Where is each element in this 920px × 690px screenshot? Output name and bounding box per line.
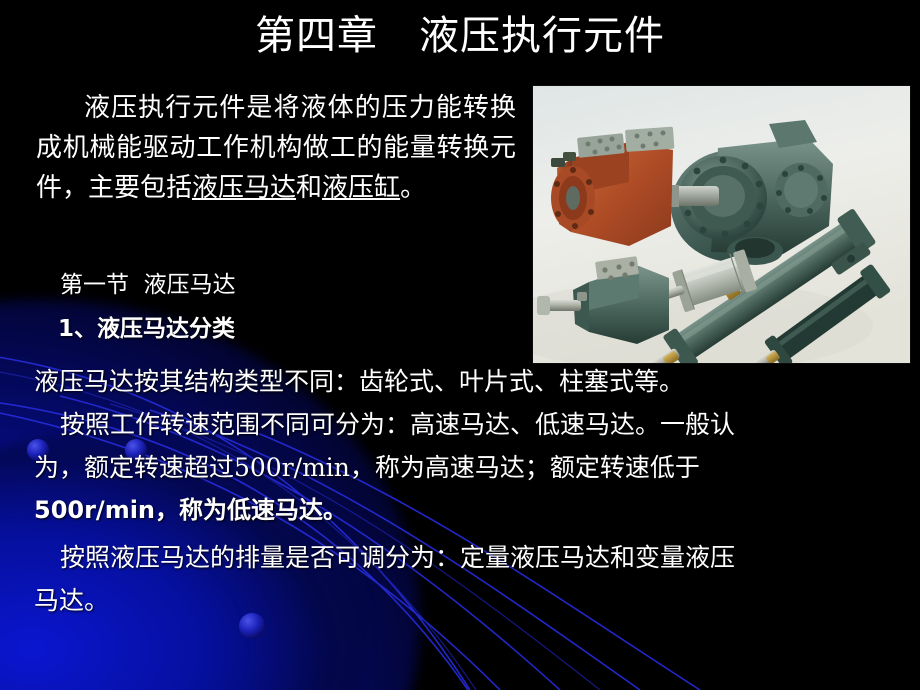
hydraulic-components-photo: [533, 86, 910, 363]
closing-paragraph: 按照液压马达的排量是否可调分为：定量液压马达和变量液压 马达。: [34, 536, 914, 622]
slide-title: 第四章 液压执行元件: [0, 8, 920, 64]
section-heading: 第一节 液压马达: [60, 268, 236, 302]
body-line: 为，额定转速超过500r/min，称为高速马达；额定转速低于: [34, 446, 914, 489]
body-paragraph: 液压马达按其结构类型不同：齿轮式、叶片式、柱塞式等。 按照工作转速范围不同可分为…: [34, 360, 914, 532]
intro-paragraph: 液压执行元件是将液体的压力能转换成机械能驱动工作机构做工的能量转换元件，主要包括…: [36, 88, 516, 208]
section-item-heading: 1、液压马达分类: [58, 312, 235, 346]
intro-text-part2: 。: [400, 173, 426, 203]
body-line: 500r/min，称为低速马达。: [34, 489, 914, 532]
intro-underline-cylinder: 液压缸: [322, 173, 400, 203]
presentation-slide: 第四章 液压执行元件: [0, 0, 920, 690]
closing-line: 马达。: [34, 579, 914, 622]
body-line: 按照工作转速范围不同可分为：高速马达、低速马达。一般认: [34, 403, 914, 446]
intro-underline-motor: 液压马达: [192, 173, 296, 203]
body-line: 液压马达按其结构类型不同：齿轮式、叶片式、柱塞式等。: [34, 360, 914, 403]
intro-conjunction: 和: [296, 173, 322, 203]
closing-line: 按照液压马达的排量是否可调分为：定量液压马达和变量液压: [34, 536, 914, 579]
